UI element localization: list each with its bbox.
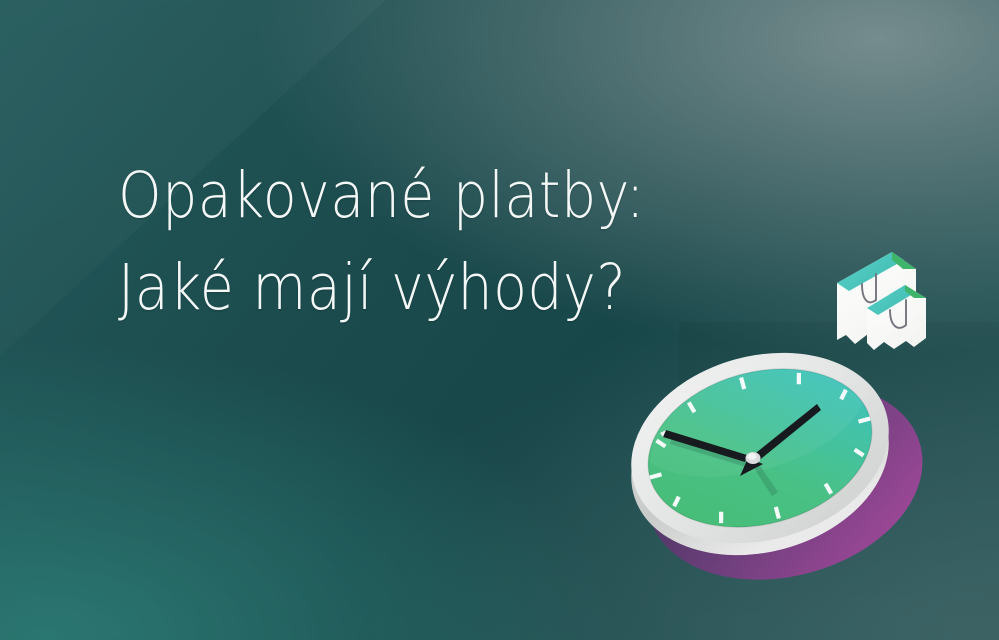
shopping-bags-illustration [820,238,950,368]
headline-line-2: Jaké mají výhody? [118,242,645,334]
headline-line-1: Opakované platby: [118,150,645,242]
clock-illustration [600,338,930,588]
banner-canvas: Opakované platby: Jaké mají výhody? [0,0,999,640]
clock-center-cap [746,452,761,464]
headline: Opakované platby: Jaké mají výhody? [118,150,645,334]
